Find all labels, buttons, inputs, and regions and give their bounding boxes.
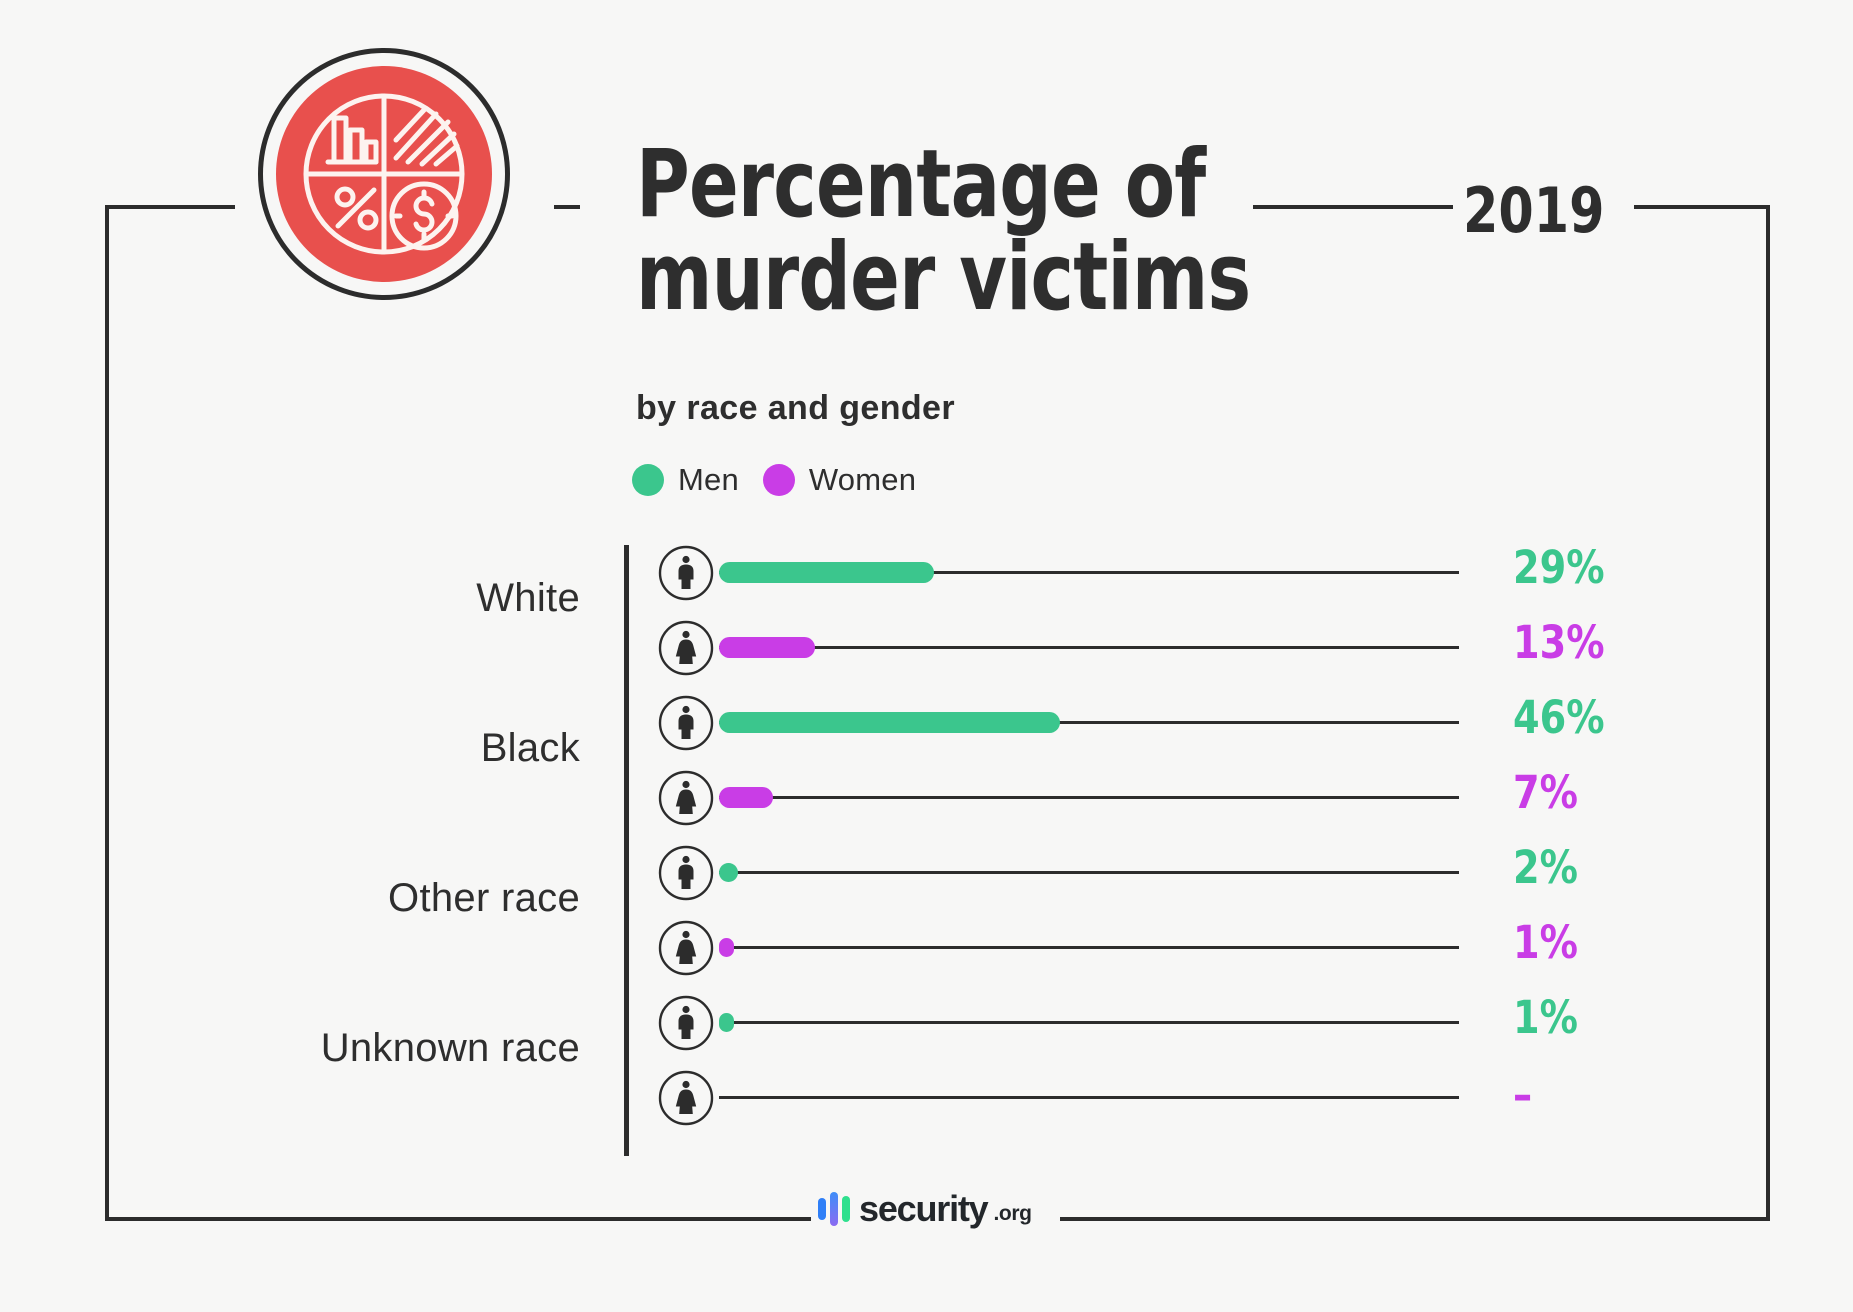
- bar-track: [719, 796, 1459, 799]
- bar-men-unknown-race: [719, 1013, 734, 1032]
- frame-border-top-left: [105, 205, 235, 209]
- bar-track: [719, 871, 1459, 874]
- pie-chart-analytics-icon: [276, 66, 492, 282]
- category-label-unknown-race: Unknown race: [120, 1026, 580, 1071]
- brand-badge: [258, 48, 510, 300]
- frame-border-bottom-left: [105, 1217, 811, 1221]
- logo-wordmark: security: [859, 1188, 987, 1230]
- legend-label-women: Women: [809, 462, 916, 498]
- legend-item-women: Women: [763, 462, 916, 498]
- chart-group-other-race: Other race 2% 1%: [0, 845, 1853, 995]
- female-figure-icon: [658, 920, 714, 976]
- security-org-logo: security .org: [818, 1188, 1032, 1230]
- category-label-white: White: [120, 576, 580, 621]
- logo-bar-purple: [830, 1192, 838, 1226]
- logo-tld: .org: [993, 1202, 1031, 1230]
- logo-bar-green: [842, 1196, 850, 1222]
- chart-legend: Men Women: [632, 462, 916, 498]
- value-men-black: 46%: [1513, 691, 1605, 744]
- bar-women-black: [719, 787, 773, 808]
- title-line-2: murder victims: [636, 231, 1182, 324]
- bar-track: [719, 946, 1459, 949]
- bar-men-black: [719, 712, 1060, 733]
- bar-women-white: [719, 637, 815, 658]
- male-figure-icon: [658, 995, 714, 1051]
- female-figure-icon: [658, 620, 714, 676]
- logo-bars-icon: [818, 1192, 850, 1226]
- value-women-other-race: 1%: [1513, 916, 1578, 969]
- chart-group-unknown-race: Unknown race 1% –: [0, 995, 1853, 1145]
- value-women-unknown-race: –: [1513, 1068, 1532, 1121]
- bar-men-other-race: [719, 863, 738, 882]
- bar-track: [719, 646, 1459, 649]
- page-title: Percentage of murder victims: [636, 138, 1336, 324]
- frame-border-top-right: [1634, 205, 1770, 209]
- year-label: 2019: [1463, 174, 1605, 247]
- green-dot-icon: [632, 464, 664, 496]
- value-women-black: 7%: [1513, 766, 1578, 819]
- bar-women-other-race: [719, 938, 734, 957]
- female-figure-icon: [658, 770, 714, 826]
- title-line-1: Percentage of: [636, 138, 1182, 231]
- value-men-white: 29%: [1513, 541, 1605, 594]
- bar-track: [719, 1021, 1459, 1024]
- category-label-black: Black: [120, 726, 580, 771]
- chart-group-white: White 29% 13%: [0, 545, 1853, 695]
- value-women-white: 13%: [1513, 616, 1605, 669]
- chart-group-black: Black 46% 7%: [0, 695, 1853, 845]
- category-label-other-race: Other race: [120, 876, 580, 921]
- bar-track: [719, 1096, 1459, 1099]
- bar-men-white: [719, 562, 934, 583]
- value-men-other-race: 2%: [1513, 841, 1578, 894]
- value-men-unknown-race: 1%: [1513, 991, 1578, 1044]
- male-figure-icon: [658, 845, 714, 901]
- frame-border-bottom-right: [1060, 1217, 1770, 1221]
- female-figure-icon: [658, 1070, 714, 1126]
- legend-item-men: Men: [632, 462, 739, 498]
- page-subtitle: by race and gender: [636, 389, 955, 428]
- male-figure-icon: [658, 695, 714, 751]
- logo-bar-blue: [818, 1198, 826, 1220]
- legend-label-men: Men: [678, 462, 739, 498]
- rule-after-badge: [554, 205, 580, 209]
- purple-dot-icon: [763, 464, 795, 496]
- male-figure-icon: [658, 545, 714, 601]
